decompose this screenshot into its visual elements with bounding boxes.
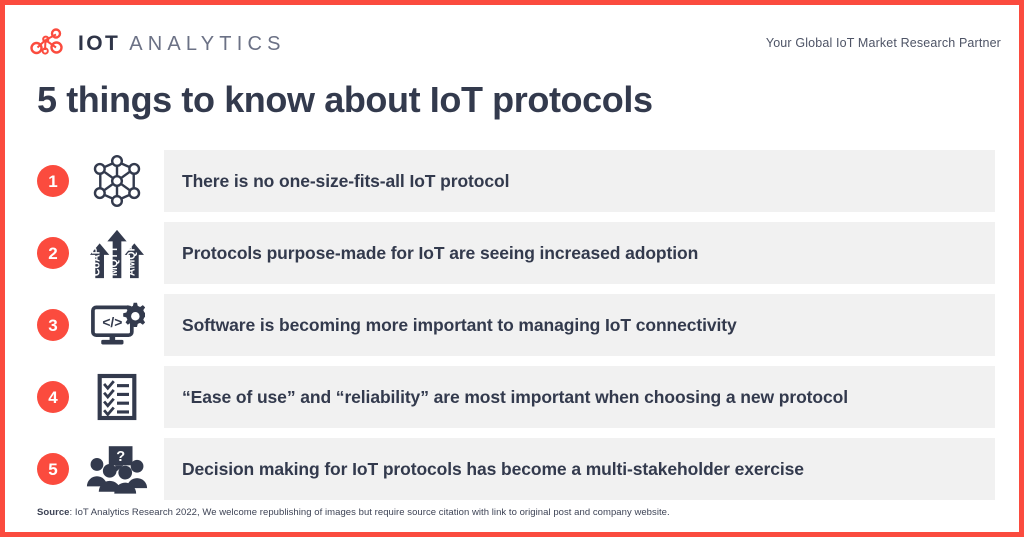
item-bar: There is no one-size-fits-all IoT protoc… [164,150,995,212]
network-mesh-icon [86,153,148,209]
item-text: There is no one-size-fits-all IoT protoc… [182,171,509,192]
monitor-code-gear-icon: </> [86,297,148,353]
item-number-badge: 5 [37,453,69,485]
item-bar: Protocols purpose-made for IoT are seein… [164,222,995,284]
item-number-badge: 3 [37,309,69,341]
item-number-badge: 4 [37,381,69,413]
item-text: Protocols purpose-made for IoT are seein… [182,243,698,264]
item-number-badge: 1 [37,165,69,197]
header: IOT ANALYTICS Your Global IoT Market Res… [29,23,1001,63]
list-item: 2 CoAP MQTT AMQP Protocols purpose-made … [37,222,1019,284]
item-bar: Decision making for IoT protocols has be… [164,438,995,500]
code-glyph: </> [102,314,122,330]
tagline: Your Global IoT Market Research Partner [766,36,1001,50]
list-item: 4 [37,366,1019,428]
item-bar: “Ease of use” and “reliability” are most… [164,366,995,428]
source-note: Source: IoT Analytics Research 2022, We … [37,507,670,518]
infographic-canvas: IOT ANALYTICS Your Global IoT Market Res… [0,0,1024,537]
brand-name-primary: IOT [78,33,120,54]
brand-name-secondary: ANALYTICS [129,34,285,54]
list-item: 5 ? [37,438,1019,500]
item-number-badge: 2 [37,237,69,269]
people-question-icon: ? [86,441,148,497]
protocol-arrows-icon: CoAP MQTT AMQP [86,225,148,281]
item-text: Decision making for IoT protocols has be… [182,459,804,480]
list-item: 1 There is [37,150,1019,212]
arrow-label-coap: CoAP [91,247,103,276]
item-text: “Ease of use” and “reliability” are most… [182,387,848,408]
item-text: Software is becoming more important to m… [182,315,737,336]
item-bar: Software is becoming more important to m… [164,294,995,356]
source-label: Source [37,507,70,518]
list-item: 3 </> Software is becoming more importan… [37,294,1019,356]
question-glyph: ? [116,449,125,465]
network-molecule-icon [29,27,67,59]
arrow-label-amqp: AMQP [125,244,137,276]
brand-logo[interactable]: IOT ANALYTICS [29,27,286,59]
arrow-label-mqtt: MQTT [108,246,120,277]
source-text: : IoT Analytics Research 2022, We welcom… [70,507,670,518]
page-title: 5 things to know about IoT protocols [37,79,653,120]
checklist-icon [86,369,148,425]
points-list: 1 There is [37,150,1019,510]
